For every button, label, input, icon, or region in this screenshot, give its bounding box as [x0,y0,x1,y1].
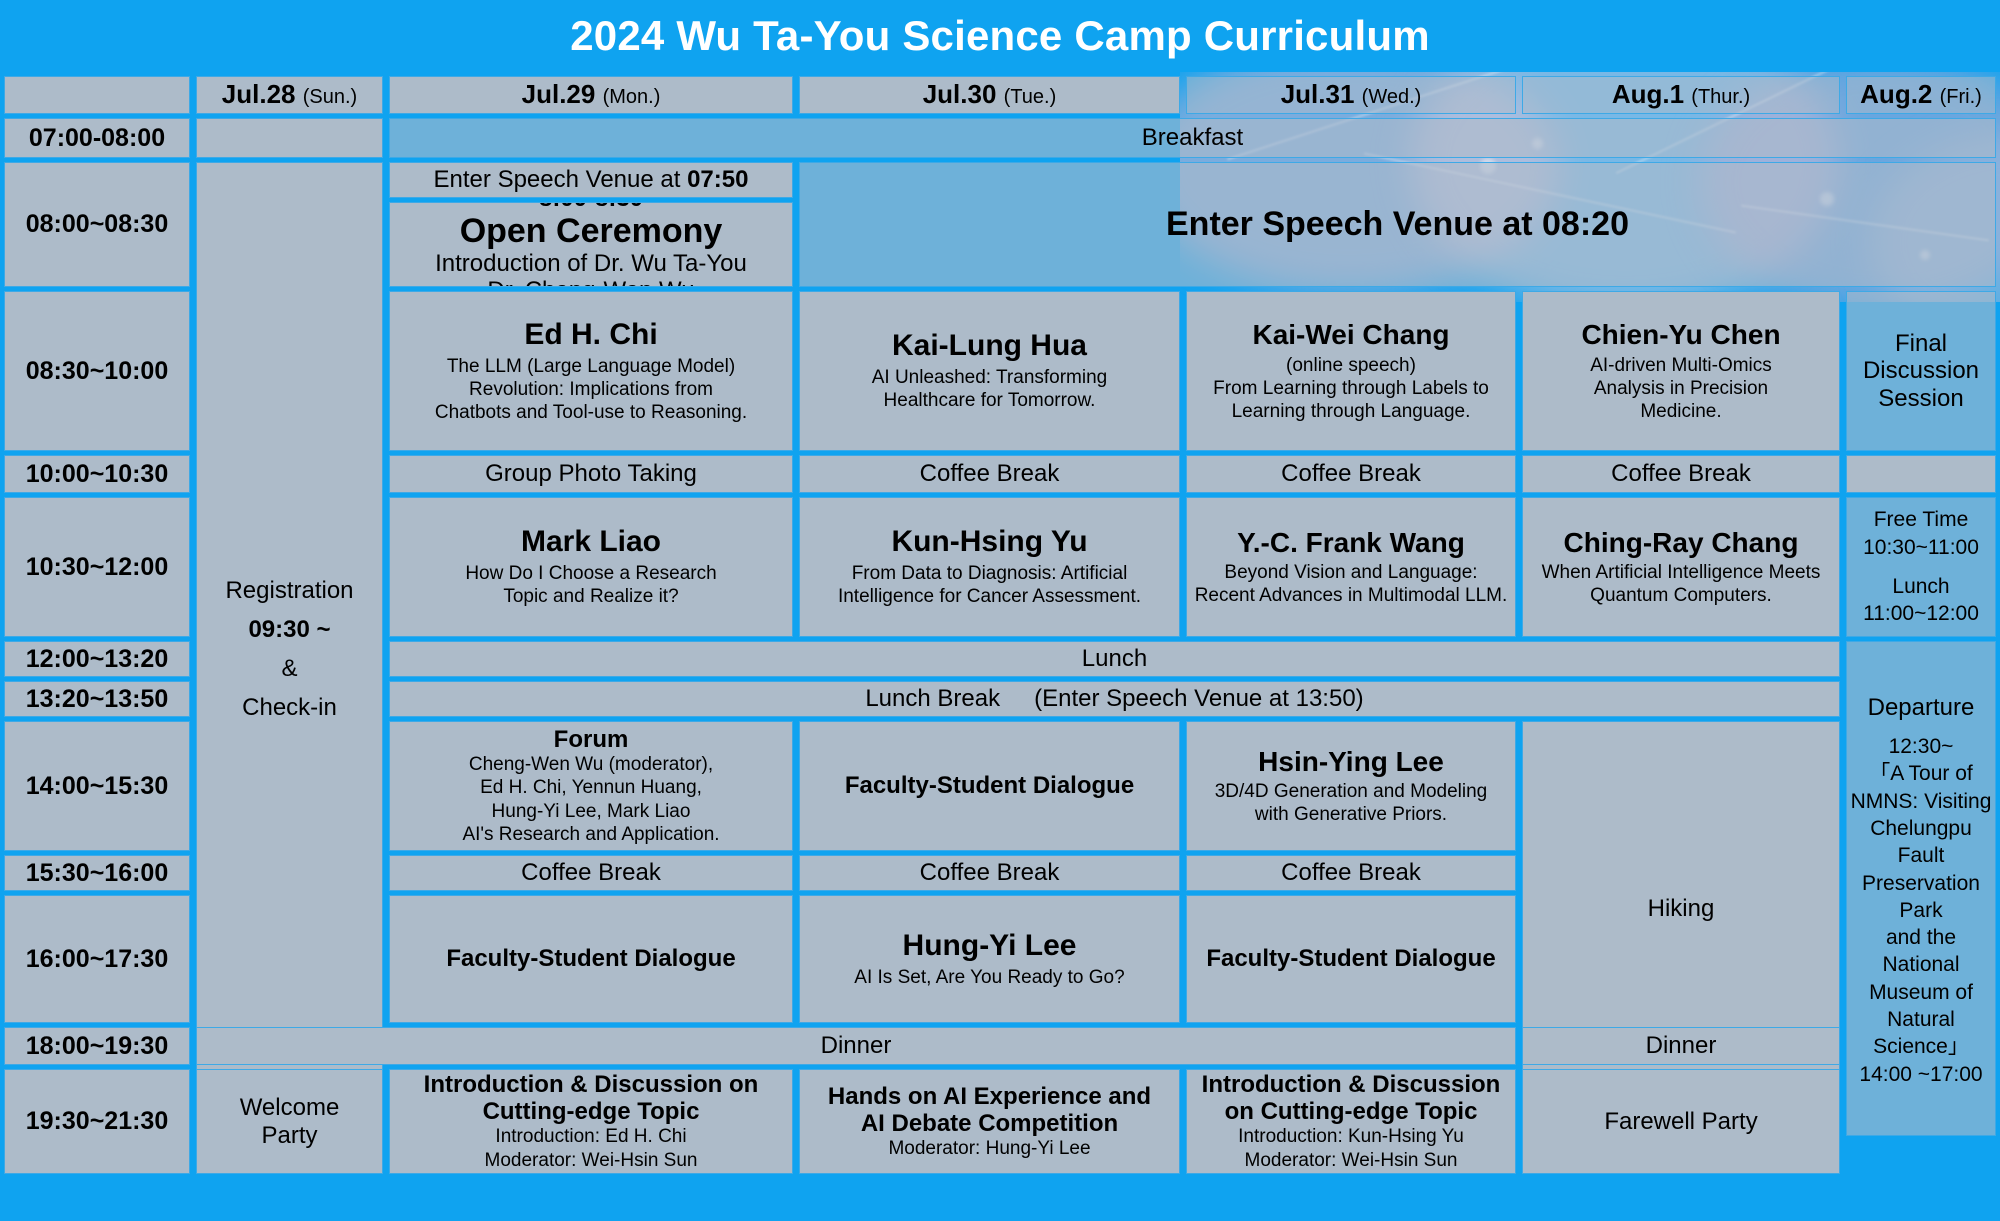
time-text: 13:20~13:50 [26,685,168,713]
topic-line1: From Data to Diagnosis: Artificial [852,562,1128,585]
registration-line1: Registration [225,577,353,604]
time-label-1930: 19:30~21:30 [4,1069,190,1174]
time-text: 08:30~10:00 [26,357,168,385]
topic-line1: AI Is Set, Are You Ready to Go? [854,966,1124,989]
speaker-name: Hung-Yi Lee [903,929,1077,963]
header-date: Aug.2 [1860,79,1932,109]
jul29-1000-break: Group Photo Taking [389,455,793,493]
welcome-line1: Welcome [240,1094,340,1121]
page-title: 2024 Wu Ta-You Science Camp Curriculum [570,12,1430,60]
topic-line1: AI Unleashed: Transforming [872,366,1108,389]
session-label: Faculty-Student Dialogue [1206,945,1495,972]
night-line2: on Cutting-edge Topic [1225,1098,1478,1125]
aug1-farewell-party: Farewell Party [1522,1069,1840,1174]
aug2-departure-cell: Departure 12:30~ 「A Tour of NMNS: Visiti… [1846,641,1996,1136]
night-line3: Introduction: Ed H. Chi [495,1125,686,1148]
aug2-free-time-lunch: Free Time 10:30~11:00 Lunch 11:00~12:00 [1846,497,1996,637]
topic-line2: Topic and Realize it? [503,585,678,608]
speaker-name: Mark Liao [521,525,661,559]
col-header-aug2: Aug.2 (Fri.) [1846,76,1996,114]
night-line3: Introduction: Kun-Hsing Yu [1238,1125,1464,1148]
jul31-1930-session: Introduction & Discussion on Cutting-edg… [1186,1069,1516,1174]
time-text: 12:00~13:20 [26,645,168,673]
registration-line4: Check-in [242,694,337,721]
departure-line9: 14:00 ~17:00 [1859,1061,1982,1088]
break-label: Coffee Break [920,859,1060,886]
header-day: (Tue.) [1004,86,1057,108]
jul28-registration-cell: Registration 09:30 ~ & Check-in [196,162,383,1136]
col-header-jul29: Jul.29 (Mon.) [389,76,793,114]
jul31-1600-dialogue: Faculty-Student Dialogue [1186,895,1516,1023]
aug1-dinner: Dinner [1522,1027,1840,1065]
header-day: (Mon.) [603,86,661,108]
break-label: Coffee Break [1281,859,1421,886]
ceremony-title: Open Ceremony [460,212,723,250]
jul31-0830-session: Kai-Wei Chang (online speech) From Learn… [1186,291,1516,451]
dinner-label: Dinner [821,1032,892,1059]
night-line2: Cutting-edge Topic [483,1098,700,1125]
aug2-1000-empty [1846,455,1996,493]
departure-line6: and the National [1847,924,1995,979]
jul30-1000-break: Coffee Break [799,455,1180,493]
dinner-label: Dinner [1646,1032,1717,1059]
ceremony-line2: Dr. Cheng-Wen Wu [487,277,694,287]
time-label-1600: 16:00~17:30 [4,895,190,1023]
final-line1: Final [1895,330,1947,357]
topic-line1: 3D/4D Generation and Modeling [1215,780,1488,803]
col-header-aug1: Aug.1 (Thur.) [1522,76,1840,114]
topic-line2: Revolution: Implications from [469,378,713,401]
time-text: 19:30~21:30 [26,1107,168,1135]
free-time-range: 10:30~11:00 [1863,534,1979,561]
topic-line2: with Generative Priors. [1255,803,1447,826]
aug2-final-discussion: Final Discussion Session [1846,291,1996,451]
speaker-name: Kai-Lung Hua [892,329,1087,363]
jul29-1930-session: Introduction & Discussion on Cutting-edg… [389,1069,793,1174]
jul29-1030-session: Mark Liao How Do I Choose a Research Top… [389,497,793,637]
time-label-1530: 15:30~16:00 [4,855,190,891]
enter-venue-0820-banner: Enter Speech Venue at 08:20 [799,162,1996,287]
jul30-1600-session: Hung-Yi Lee AI Is Set, Are You Ready to … [799,895,1180,1023]
jul29-open-ceremony: 8:00-8:30 Open Ceremony Introduction of … [389,202,793,287]
night-line1: Hands on AI Experience and [828,1083,1151,1110]
lunch-row-banner: Lunch [389,641,1840,677]
time-text: 18:00~19:30 [26,1032,168,1060]
breakfast-label: Breakfast [1142,124,1243,151]
topic-line1: AI-driven Multi-Omics [1590,354,1772,377]
welcome-line2: Party [261,1122,317,1149]
col-header-jul28: Jul.28 (Sun.) [196,76,383,114]
jul31-1530-break: Coffee Break [1186,855,1516,891]
forum-line3: Hung-Yi Lee, Mark Liao [492,800,691,823]
header-day: (Wed.) [1362,86,1422,108]
time-label-1400: 14:00~15:30 [4,721,190,851]
break-label: Coffee Break [521,859,661,886]
topic-line2: Intelligence for Cancer Assessment. [838,585,1141,608]
speaker-name: Ching-Ray Chang [1564,527,1799,559]
speaker-note: (online speech) [1286,354,1416,377]
lunch-break-label: Lunch Break [865,685,1000,712]
time-label-0830: 08:30~10:00 [4,291,190,451]
topic-line1: Beyond Vision and Language: [1224,561,1477,584]
speaker-name: Hsin-Ying Lee [1258,746,1444,778]
departure-title: Departure [1868,694,1975,721]
jul29-1400-forum: Forum Cheng-Wen Wu (moderator), Ed H. Ch… [389,721,793,851]
night-line1: Introduction & Discussion [1202,1071,1501,1098]
night-line4: Moderator: Wei-Hsin Sun [1245,1149,1458,1172]
jul29-1530-break: Coffee Break [389,855,793,891]
ceremony-line1: Introduction of Dr. Wu Ta-You [435,250,747,277]
speaker-name: Chien-Yu Chen [1581,319,1780,351]
time-text: 14:00~15:30 [26,772,168,800]
corner-blank-cell [4,76,190,114]
jul29-enter-venue-0750: Enter Speech Venue at 07:50 [389,162,793,198]
col-header-jul30: Jul.30 (Tue.) [799,76,1180,114]
speaker-name: Kun-Hsing Yu [891,525,1087,559]
jul31-1000-break: Coffee Break [1186,455,1516,493]
break-label: Coffee Break [1611,460,1751,487]
lunch-break-note: (Enter Speech Venue at 13:50) [1034,685,1364,712]
topic-line1: From Learning through Labels to [1213,377,1489,400]
curriculum-poster: 2024 Wu Ta-You Science Camp Curriculum J… [0,0,2000,1221]
time-label-1200: 12:00~13:20 [4,641,190,677]
time-text: 07:00-08:00 [29,124,165,152]
jul30-0830-session: Kai-Lung Hua AI Unleashed: Transforming … [799,291,1180,451]
lunch-range: 11:00~12:00 [1863,600,1979,627]
speaker-name: Ed H. Chi [524,318,657,352]
forum-line1: Cheng-Wen Wu (moderator), [469,753,713,776]
lunch-break-banner: Lunch Break (Enter Speech Venue at 13:50… [389,681,1840,717]
departure-line3: NMNS: Visiting [1851,788,1992,815]
speaker-name: Y.-C. Frank Wang [1237,527,1465,559]
topic-line2: Analysis in Precision [1594,377,1768,400]
break-label: Coffee Break [920,460,1060,487]
time-label-1800: 18:00~19:30 [4,1027,190,1065]
header-date: Jul.28 [222,79,296,109]
time-text: 10:30~12:00 [26,553,168,581]
time-text: 16:00~17:30 [26,945,168,973]
jul31-1400-session: Hsin-Ying Lee 3D/4D Generation and Model… [1186,721,1516,851]
break-label: Coffee Break [1281,460,1421,487]
session-label: Faculty-Student Dialogue [845,772,1134,799]
topic-line2: Quantum Computers. [1590,584,1772,607]
final-line3: Session [1878,385,1963,412]
header-date: Jul.30 [923,79,997,109]
jul28-welcome-party: Welcome Party [196,1069,383,1174]
departure-line4: Chelungpu Fault [1847,815,1995,870]
time-text: 10:00~10:30 [26,460,168,488]
hiking-label: Hiking [1648,895,1715,922]
jul31-1030-session: Y.-C. Frank Wang Beyond Vision and Langu… [1186,497,1516,637]
jul30-1030-session: Kun-Hsing Yu From Data to Diagnosis: Art… [799,497,1180,637]
jul29-0830-session: Ed H. Chi The LLM (Large Language Model)… [389,291,793,451]
enter-venue-text: Enter Speech Venue at [434,166,688,193]
header-day: (Thur.) [1691,86,1750,108]
time-text: 08:00~08:30 [26,210,168,238]
departure-line7: Museum of [1869,979,1973,1006]
enter-venue-0820-text: Enter Speech Venue at 08:20 [1166,205,1629,243]
jul30-1530-break: Coffee Break [799,855,1180,891]
topic-line2: Healthcare for Tomorrow. [884,389,1096,412]
departure-line2: 「A Tour of [1869,760,1973,787]
topic-line2: Recent Advances in Multimodal LLM. [1195,584,1508,607]
header-date: Jul.29 [522,79,596,109]
time-label-1000: 10:00~10:30 [4,455,190,493]
night-line3: Moderator: Hung-Yi Lee [888,1137,1090,1160]
final-line2: Discussion [1863,357,1979,384]
forum-title: Forum [554,726,629,753]
time-label-0700: 07:00-08:00 [4,118,190,158]
time-text: 15:30~16:00 [26,859,168,887]
night-line2: AI Debate Competition [861,1110,1118,1137]
header-day: (Sun.) [303,86,357,108]
lunch-label: Lunch [1892,573,1949,600]
topic-line1: When Artificial Intelligence Meets [1542,561,1821,584]
topic-line1: How Do I Choose a Research [465,562,716,585]
time-label-1030: 10:30~12:00 [4,497,190,637]
free-time-label: Free Time [1874,506,1969,533]
night-line4: Moderator: Wei-Hsin Sun [485,1149,698,1172]
breakfast-row: Breakfast [389,118,1996,158]
topic-line3: Medicine. [1640,400,1721,423]
ceremony-time: 8:00-8:30 [539,202,643,212]
topic-line1: The LLM (Large Language Model) [447,355,735,378]
dinner-banner: Dinner [196,1027,1516,1065]
registration-line2: 09:30 ~ [248,616,330,643]
farewell-label: Farewell Party [1604,1108,1757,1135]
schedule-grid: Jul.28 (Sun.) Jul.29 (Mon.) Jul.30 (Tue.… [0,72,2000,1221]
jul30-1930-session: Hands on AI Experience and AI Debate Com… [799,1069,1180,1174]
time-label-0800: 08:00~08:30 [4,162,190,287]
registration-line3: & [281,655,297,682]
departure-line5: Preservation Park [1847,870,1995,925]
col-header-jul31: Jul.31 (Wed.) [1186,76,1516,114]
aug1-1030-session: Ching-Ray Chang When Artificial Intellig… [1522,497,1840,637]
night-line1: Introduction & Discussion on [424,1071,759,1098]
forum-line4: AI's Research and Application. [462,823,719,846]
topic-line3: Chatbots and Tool-use to Reasoning. [435,401,747,424]
poster-title-bar: 2024 Wu Ta-You Science Camp Curriculum [0,0,2000,72]
header-day: (Fri.) [1940,86,1982,108]
forum-line2: Ed H. Chi, Yennun Huang, [480,776,702,799]
session-label: Faculty-Student Dialogue [446,945,735,972]
topic-line2: Learning through Language. [1232,400,1471,423]
lunch-label: Lunch [1082,645,1147,672]
break-label: Group Photo Taking [485,460,697,487]
aug1-0830-session: Chien-Yu Chen AI-driven Multi-Omics Anal… [1522,291,1840,451]
departure-line8: Natural Science」 [1847,1006,1995,1061]
enter-venue-time: 07:50 [687,166,748,193]
aug1-1000-break: Coffee Break [1522,455,1840,493]
header-date: Jul.31 [1281,79,1355,109]
header-date: Aug.1 [1612,79,1684,109]
speaker-name: Kai-Wei Chang [1252,319,1449,351]
jul28-0700-empty [196,118,383,158]
departure-line1: 12:30~ [1889,733,1954,760]
time-label-1320: 13:20~13:50 [4,681,190,717]
jul30-1400-dialogue: Faculty-Student Dialogue [799,721,1180,851]
jul29-1600-dialogue: Faculty-Student Dialogue [389,895,793,1023]
